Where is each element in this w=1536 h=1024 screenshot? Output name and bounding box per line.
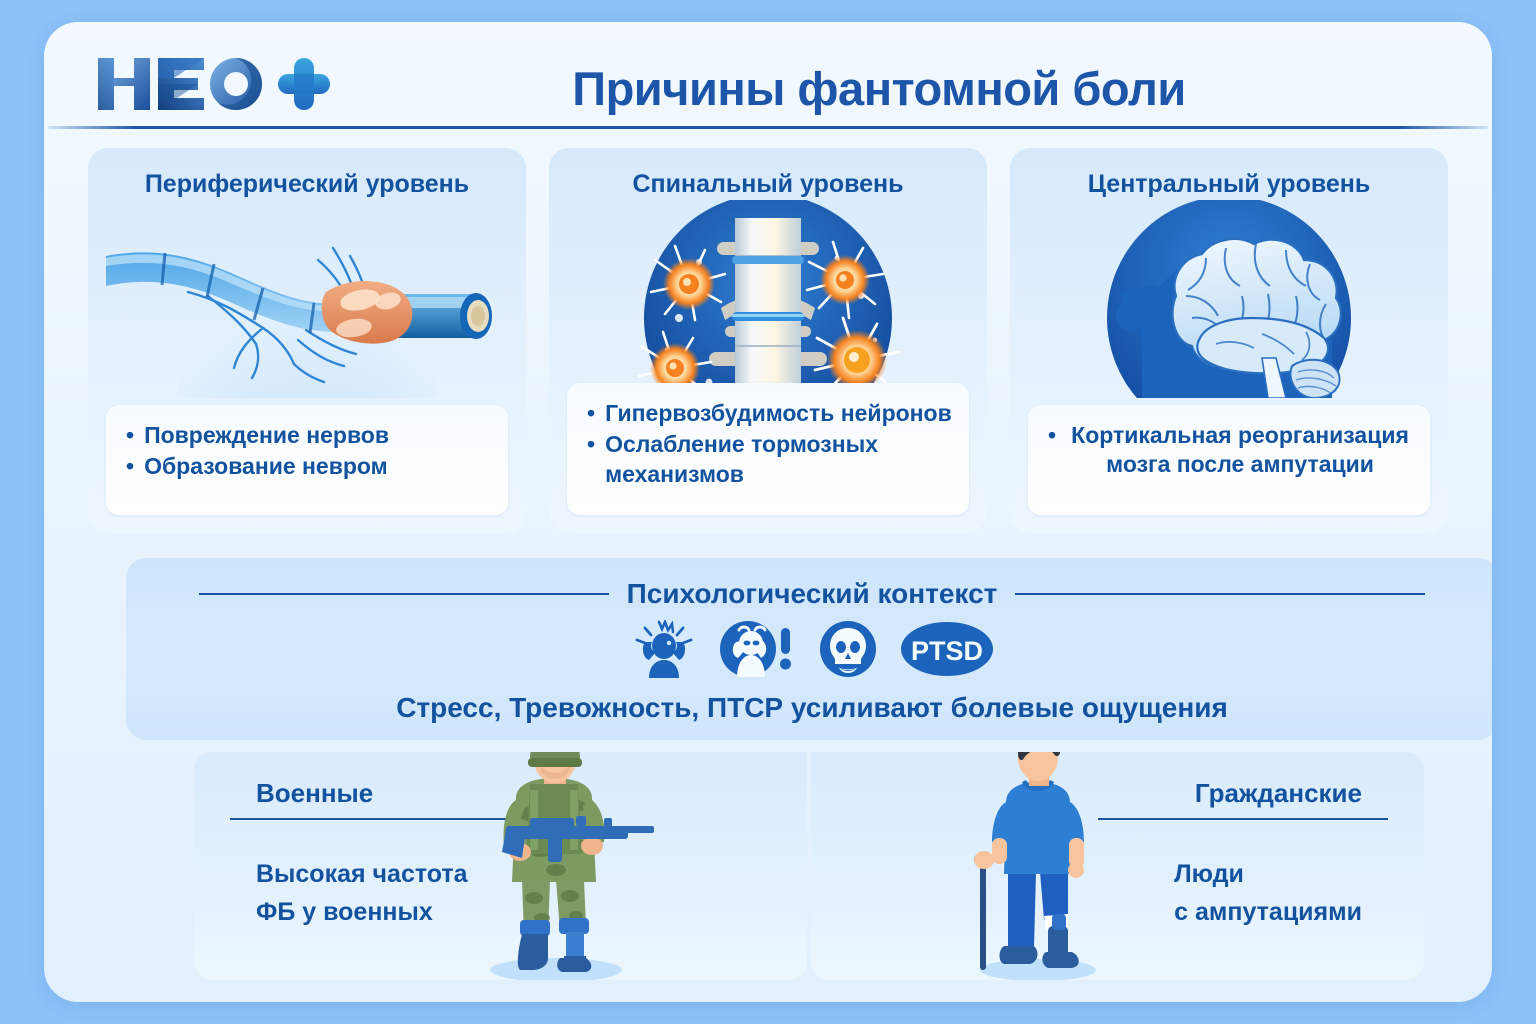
comparison-text: Люди с ампутациями [1174, 856, 1362, 931]
level-card-central[interactable]: Центральный уровень [1010, 148, 1448, 533]
psychological-context-panel: Психологический контекст [126, 558, 1492, 740]
brand-logo [92, 52, 332, 114]
psych-heading-row: Психологический контекст [126, 578, 1492, 610]
comparison-title: Военные [256, 778, 373, 809]
level-card-peripheral[interactable]: Периферический уровень [88, 148, 526, 533]
comparison-panel-civilian[interactable]: Гражданские Люди с ампутациями [811, 752, 1424, 980]
psych-rule-left [199, 593, 609, 595]
list-item: • Повреждение нервов [126, 421, 492, 450]
bullet-text: Образование невром [144, 452, 388, 481]
comparison-text-line1: Высокая частота [256, 856, 468, 894]
comparison-text-line2: ФБ у военных [256, 894, 468, 932]
psych-icon-row: PTSD [126, 620, 1492, 682]
level-card-title: Периферический уровень [88, 170, 526, 199]
civilian-figure [934, 752, 1134, 980]
anxious-person-exclamation-icon [719, 620, 797, 683]
comparison-title: Гражданские [1195, 778, 1362, 809]
level-card-title: Центральный уровень [1010, 170, 1448, 199]
comparison-text-line1: Люди [1174, 856, 1362, 894]
levels-row: Периферический уровень [88, 148, 1448, 538]
poster-card: Причины фантомной боли Периферический ур… [44, 22, 1492, 1002]
damaged-nerve-illustration [88, 200, 526, 398]
header-divider [48, 126, 1488, 129]
brain-head-illustration [1010, 200, 1448, 398]
page-title: Причины фантомной боли [374, 58, 1384, 120]
header: Причины фантомной боли [44, 22, 1492, 126]
level-card-bullets: • Гипервозбудимость нейронов • Ослаблени… [567, 383, 969, 515]
bullet-dot: • [126, 452, 134, 481]
stressed-person-icon [629, 620, 699, 683]
bullet-dot: • [1048, 421, 1056, 450]
bullet-text: Гипервозбудимость нейронов [605, 399, 952, 428]
psych-title: Психологический контекст [627, 578, 998, 610]
spinal-cord-neurons-illustration [549, 200, 987, 398]
level-card-bullets: • Повреждение нервов • Образование невро… [106, 405, 508, 515]
comparison-panel-military[interactable]: Военные Высокая частота ФБ у военных [194, 752, 807, 980]
soldier-figure [444, 752, 664, 980]
psych-caption: Стресс, Тревожность, ПТСР усиливают боле… [126, 692, 1492, 724]
bullet-text: Повреждение нервов [144, 421, 389, 450]
bullet-dot: • [587, 399, 595, 428]
ptsd-badge-icon: PTSD [899, 621, 995, 682]
skull-icon [817, 620, 879, 683]
level-card-bullets: • Кортикальная реорганизация мозга после… [1028, 405, 1430, 515]
list-item: • Ослабление тормозных механизмов [587, 430, 953, 489]
comparison-row: Военные Высокая частота ФБ у военных [194, 752, 1424, 980]
comparison-divider [1098, 818, 1388, 820]
bullet-dot: • [587, 430, 595, 459]
level-card-title: Спинальный уровень [549, 170, 987, 199]
psych-rule-right [1015, 593, 1425, 595]
comparison-text: Высокая частота ФБ у военных [256, 856, 468, 931]
infographic-root: Причины фантомной боли Периферический ур… [0, 0, 1536, 1024]
ptsd-badge-label: PTSD [911, 636, 983, 666]
list-item: • Кортикальная реорганизация мозга после… [1048, 421, 1414, 480]
comparison-text-line2: с ампутациями [1174, 894, 1362, 932]
bullet-text: Кортикальная реорганизация мозга после а… [1066, 421, 1414, 480]
level-card-spinal[interactable]: Спинальный уровень [549, 148, 987, 533]
bullet-text: Ослабление тормозных механизмов [605, 430, 953, 489]
list-item: • Гипервозбудимость нейронов [587, 399, 953, 428]
bullet-dot: • [126, 421, 134, 450]
list-item: • Образование невром [126, 452, 492, 481]
